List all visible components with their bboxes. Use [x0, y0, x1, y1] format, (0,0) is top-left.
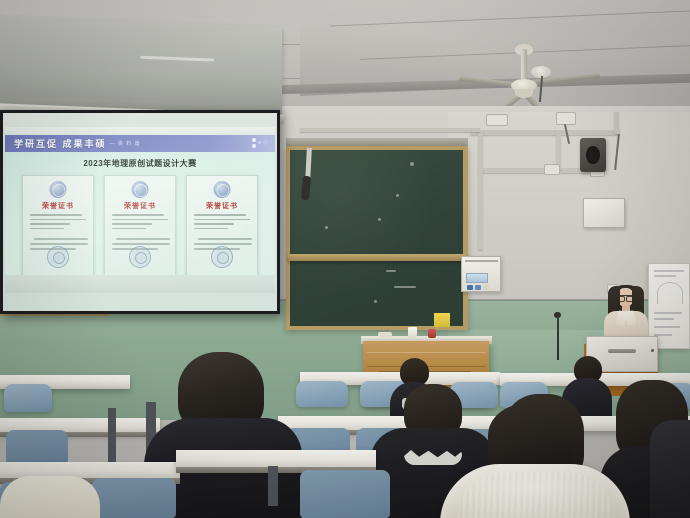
- control-panel-button[interactable]: [483, 285, 489, 290]
- screen-roller-housing: [0, 16, 282, 119]
- wall-speaker: [580, 138, 606, 172]
- certificate-stamp-icon: [129, 246, 151, 268]
- board-line: [654, 318, 674, 320]
- dot-icon: [258, 141, 261, 144]
- housing-slot: [140, 56, 214, 62]
- yellow-note: [434, 313, 450, 327]
- board-line: [654, 270, 684, 272]
- paper-cup: [408, 327, 417, 338]
- certificate-item: 荣誉证书: [104, 175, 176, 285]
- slide-title: 2023年地理原创试题设计大赛: [5, 158, 275, 169]
- certificate-title: 荣誉证书: [23, 201, 93, 211]
- certificate-title: 荣誉证书: [105, 201, 175, 211]
- lecture-seat[interactable]: [296, 381, 348, 407]
- lecture-seat[interactable]: [300, 470, 390, 518]
- dot-icon: [252, 144, 256, 148]
- control-panel-button[interactable]: [475, 285, 481, 290]
- chalk-streak: [386, 270, 396, 272]
- microphone-stand: [557, 316, 559, 360]
- fan-downrod: [521, 49, 527, 82]
- projector-screen-surface: 学研互促 成果丰硕 — 资 料 篇 2023年地理原创试题设计大赛 荣誉证书: [3, 113, 277, 311]
- control-panel-label: [465, 260, 498, 262]
- certificate-emblem-icon: [132, 181, 149, 198]
- electrical-conduit: [470, 130, 620, 135]
- certificate-title: 荣誉证书: [187, 201, 257, 211]
- slide-header-title: 学研互促 成果丰硕: [14, 137, 107, 150]
- desk-support-frame: [108, 408, 116, 464]
- header-dots-decoration: [252, 138, 268, 149]
- desk-item: [378, 332, 392, 337]
- slide-header-band: 学研互促 成果丰硕 — 资 料 篇: [5, 135, 275, 152]
- certificate-fields: [194, 214, 252, 232]
- slide-bottom-band: [5, 275, 275, 293]
- slide-header-subtitle: — 资 料 篇: [110, 140, 141, 147]
- presentation-slide: 学研互促 成果丰硕 — 资 料 篇 2023年地理原创试题设计大赛 荣誉证书: [5, 127, 275, 293]
- lecture-seat[interactable]: [92, 478, 176, 518]
- blackboard-surface: [290, 150, 463, 326]
- wall-control-panel[interactable]: [461, 256, 501, 292]
- board-line: [654, 326, 680, 328]
- certificate-fields: [112, 214, 170, 232]
- certificate-item: 荣誉证书: [22, 175, 94, 285]
- electrical-conduit: [300, 128, 480, 132]
- chalk-mark: [374, 300, 377, 303]
- podium-handle[interactable]: [608, 349, 636, 353]
- dot-icon: [263, 140, 268, 145]
- electrical-conduit: [478, 130, 483, 250]
- board-arc-graphic: [657, 282, 683, 304]
- certificate-emblem-icon: [214, 181, 231, 198]
- certificate-stamp-icon: [47, 246, 69, 268]
- desk-support-frame: [268, 466, 278, 506]
- presenter-at-podium: [600, 281, 652, 343]
- coat-shoulder: [0, 476, 100, 518]
- wall-junction-box: [556, 112, 576, 125]
- certificate-fields: [30, 214, 88, 232]
- certificate-row: 荣誉证书: [5, 175, 275, 287]
- chalk-streak: [394, 286, 416, 288]
- student-fur-coat: [440, 404, 630, 518]
- chalk-mark: [325, 226, 328, 229]
- podium-indicator: [651, 349, 654, 352]
- lecture-seat[interactable]: [4, 384, 52, 412]
- wall-electrical-box: [583, 198, 625, 228]
- speaker-cone-icon: [586, 146, 600, 164]
- classroom-scene: 学研互促 成果丰硕 — 资 料 篇 2023年地理原创试题设计大赛 荣誉证书: [0, 0, 690, 518]
- fan-hub-cap: [515, 89, 533, 98]
- lecture-seat[interactable]: [6, 430, 68, 464]
- electrical-conduit: [614, 112, 619, 134]
- certificate-stamp-icon: [211, 246, 233, 268]
- board-line: [654, 275, 676, 277]
- certificate-emblem-icon: [50, 181, 67, 198]
- wall-junction-box: [486, 114, 508, 126]
- projector-screen: 学研互促 成果丰硕 — 资 料 篇 2023年地理原创试题设计大赛 荣誉证书: [0, 110, 280, 314]
- certificate-item: 荣誉证书: [186, 175, 258, 285]
- wall-socket[interactable]: [544, 164, 560, 175]
- student-left-edge: [0, 470, 96, 518]
- slide-top-band: [5, 127, 275, 135]
- chalk-mark: [410, 162, 414, 166]
- blackboard: [286, 146, 468, 330]
- student-torso: [650, 420, 690, 518]
- board-line: [654, 312, 682, 314]
- chalk-ledge: [288, 254, 466, 261]
- fur-texture: [458, 472, 614, 518]
- dot-icon: [252, 138, 256, 142]
- control-panel-button[interactable]: [467, 285, 473, 290]
- chalk-mark: [378, 218, 381, 221]
- red-container: [428, 329, 436, 338]
- chalk-mark: [396, 194, 399, 197]
- student-far-right: [650, 420, 690, 518]
- control-panel-display: [466, 273, 488, 283]
